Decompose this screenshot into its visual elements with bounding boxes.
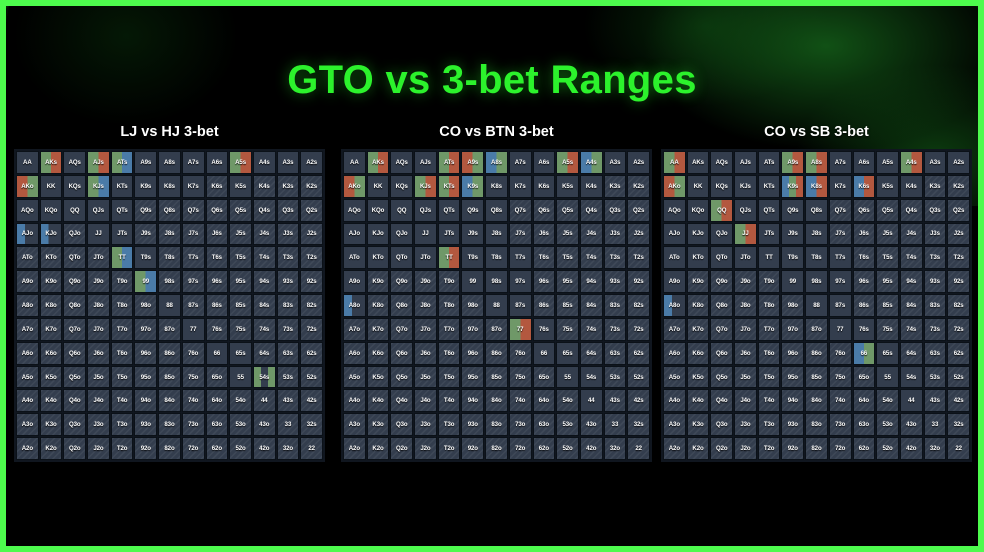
range-cell[interactable]: 99 (134, 270, 157, 293)
range-cell[interactable]: QQ (390, 199, 413, 222)
range-cell[interactable]: 63s (277, 342, 300, 365)
range-cell[interactable]: 43s (277, 389, 300, 412)
range-cell[interactable]: 66 (533, 342, 556, 365)
range-cell[interactable]: A9s (134, 151, 157, 174)
range-cell[interactable]: 63s (604, 342, 627, 365)
range-cell[interactable]: 73o (509, 413, 532, 436)
range-cell[interactable]: 32o (924, 437, 947, 460)
range-grid-co-vs-btn[interactable]: AAAKsAQsAJsATsA9sA8sA7sA6sA5sA4sA3sA2sAK… (341, 149, 652, 462)
range-cell[interactable]: AA (343, 151, 366, 174)
range-cell[interactable]: T8s (805, 246, 828, 269)
range-cell[interactable]: K4s (900, 175, 923, 198)
range-cell[interactable]: T3o (758, 413, 781, 436)
range-cell[interactable]: K8s (805, 175, 828, 198)
range-cell[interactable]: J4o (87, 389, 110, 412)
range-cell[interactable]: T7o (758, 318, 781, 341)
range-cell[interactable]: 76o (509, 342, 532, 365)
range-cell[interactable]: 96o (781, 342, 804, 365)
range-cell[interactable]: J8o (414, 294, 437, 317)
range-cell[interactable]: 64o (853, 389, 876, 412)
range-cell[interactable]: Q9o (710, 270, 733, 293)
range-cell[interactable]: A6s (533, 151, 556, 174)
range-cell[interactable]: AJo (16, 223, 39, 246)
range-cell[interactable]: KK (687, 175, 710, 198)
range-cell[interactable]: 82o (485, 437, 508, 460)
range-cell[interactable]: AQo (343, 199, 366, 222)
range-cell[interactable]: J3s (924, 223, 947, 246)
range-cell[interactable]: Q6o (63, 342, 86, 365)
range-cell[interactable]: AQs (63, 151, 86, 174)
range-cell[interactable]: J7o (414, 318, 437, 341)
range-cell[interactable]: J4s (253, 223, 276, 246)
range-cell[interactable]: Q8o (710, 294, 733, 317)
range-cell[interactable]: AKs (40, 151, 63, 174)
range-cell[interactable]: ATo (16, 246, 39, 269)
range-cell[interactable]: A4o (663, 389, 686, 412)
range-cell[interactable]: 85s (556, 294, 579, 317)
range-cell[interactable]: 95o (134, 366, 157, 389)
range-cell[interactable]: 54s (253, 366, 276, 389)
range-cell[interactable]: 95s (556, 270, 579, 293)
range-cell[interactable]: 99 (781, 270, 804, 293)
range-cell[interactable]: 94o (134, 389, 157, 412)
range-cell[interactable]: 62s (627, 342, 650, 365)
range-cell[interactable]: A5s (556, 151, 579, 174)
range-cell[interactable]: 88 (485, 294, 508, 317)
range-cell[interactable]: 66 (853, 342, 876, 365)
range-cell[interactable]: JJ (414, 223, 437, 246)
range-cell[interactable]: J9o (414, 270, 437, 293)
range-cell[interactable]: J9s (461, 223, 484, 246)
range-cell[interactable]: 75o (829, 366, 852, 389)
range-cell[interactable]: 87o (158, 318, 181, 341)
range-cell[interactable]: 92o (134, 437, 157, 460)
range-cell[interactable]: 42s (627, 389, 650, 412)
range-cell[interactable]: 82s (947, 294, 970, 317)
range-cell[interactable]: K3s (277, 175, 300, 198)
range-cell[interactable]: 98o (134, 294, 157, 317)
range-cell[interactable]: 87s (182, 294, 205, 317)
range-cell[interactable]: AQo (16, 199, 39, 222)
range-cell[interactable]: 94s (900, 270, 923, 293)
range-cell[interactable]: T2s (947, 246, 970, 269)
range-cell[interactable]: Q6o (710, 342, 733, 365)
range-cell[interactable]: A8o (343, 294, 366, 317)
range-cell[interactable]: 74s (580, 318, 603, 341)
range-cell[interactable]: 73o (182, 413, 205, 436)
range-cell[interactable]: TT (438, 246, 461, 269)
range-cell[interactable]: Q3s (924, 199, 947, 222)
range-cell[interactable]: 96o (461, 342, 484, 365)
range-cell[interactable]: A7s (829, 151, 852, 174)
range-cell[interactable]: AJo (343, 223, 366, 246)
range-cell[interactable]: J8s (485, 223, 508, 246)
range-cell[interactable]: AJs (414, 151, 437, 174)
range-cell[interactable]: 94o (461, 389, 484, 412)
range-cell[interactable]: 53s (924, 366, 947, 389)
range-cell[interactable]: A4s (253, 151, 276, 174)
range-cell[interactable]: T8s (158, 246, 181, 269)
range-cell[interactable]: 53o (876, 413, 899, 436)
range-cell[interactable]: 64o (206, 389, 229, 412)
range-cell[interactable]: 42o (580, 437, 603, 460)
range-cell[interactable]: Q6s (533, 199, 556, 222)
range-cell[interactable]: 75o (509, 366, 532, 389)
range-cell[interactable]: 43s (924, 389, 947, 412)
range-cell[interactable]: J2s (627, 223, 650, 246)
range-cell[interactable]: A6s (853, 151, 876, 174)
range-cell[interactable]: ATs (438, 151, 461, 174)
range-cell[interactable]: K7s (829, 175, 852, 198)
range-cell[interactable]: J2s (947, 223, 970, 246)
range-cell[interactable]: 22 (947, 437, 970, 460)
range-cell[interactable]: 52s (627, 366, 650, 389)
range-cell[interactable]: TT (111, 246, 134, 269)
range-cell[interactable]: 32o (604, 437, 627, 460)
range-cell[interactable]: 99 (461, 270, 484, 293)
range-cell[interactable]: QJo (710, 223, 733, 246)
range-cell[interactable]: KQo (687, 199, 710, 222)
range-cell[interactable]: J5s (229, 223, 252, 246)
range-cell[interactable]: JJ (87, 223, 110, 246)
range-cell[interactable]: A7o (343, 318, 366, 341)
range-cell[interactable]: 93o (781, 413, 804, 436)
range-cell[interactable]: K2s (947, 175, 970, 198)
range-cell[interactable]: 95s (876, 270, 899, 293)
range-cell[interactable]: J5s (556, 223, 579, 246)
range-cell[interactable]: QTo (63, 246, 86, 269)
range-cell[interactable]: QJo (63, 223, 86, 246)
range-cell[interactable]: 53s (604, 366, 627, 389)
range-cell[interactable]: J4o (414, 389, 437, 412)
range-cell[interactable]: A8s (158, 151, 181, 174)
range-cell[interactable]: T5s (229, 246, 252, 269)
range-cell[interactable]: J3o (414, 413, 437, 436)
range-cell[interactable]: KTs (758, 175, 781, 198)
range-cell[interactable]: J2s (300, 223, 323, 246)
range-cell[interactable]: K9s (781, 175, 804, 198)
range-cell[interactable]: K6o (367, 342, 390, 365)
range-cell[interactable]: K4s (580, 175, 603, 198)
range-cell[interactable]: J7o (87, 318, 110, 341)
range-cell[interactable]: K8o (40, 294, 63, 317)
range-cell[interactable]: 62o (533, 437, 556, 460)
range-cell[interactable]: Q7o (63, 318, 86, 341)
range-cell[interactable]: 95o (461, 366, 484, 389)
range-cell[interactable]: ATo (663, 246, 686, 269)
range-cell[interactable]: JTo (87, 246, 110, 269)
range-cell[interactable]: 65o (853, 366, 876, 389)
range-cell[interactable]: AKs (687, 151, 710, 174)
range-cell[interactable]: 63o (206, 413, 229, 436)
range-cell[interactable]: J4s (900, 223, 923, 246)
range-cell[interactable]: A3o (663, 413, 686, 436)
range-cell[interactable]: K7o (687, 318, 710, 341)
range-cell[interactable]: AA (16, 151, 39, 174)
range-cell[interactable]: J8o (734, 294, 757, 317)
range-cell[interactable]: 82o (158, 437, 181, 460)
range-cell[interactable]: Q4s (900, 199, 923, 222)
range-cell[interactable]: AQs (390, 151, 413, 174)
range-cell[interactable]: 52o (876, 437, 899, 460)
range-cell[interactable]: A2o (16, 437, 39, 460)
range-cell[interactable]: 82s (627, 294, 650, 317)
range-cell[interactable]: 85s (876, 294, 899, 317)
range-cell[interactable]: J7s (182, 223, 205, 246)
range-cell[interactable]: 62s (300, 342, 323, 365)
range-cell[interactable]: T4o (438, 389, 461, 412)
range-cell[interactable]: 87s (509, 294, 532, 317)
range-cell[interactable]: J2o (87, 437, 110, 460)
range-cell[interactable]: T5o (111, 366, 134, 389)
range-cell[interactable]: A9o (663, 270, 686, 293)
range-cell[interactable]: 95s (229, 270, 252, 293)
range-cell[interactable]: Q5s (229, 199, 252, 222)
range-cell[interactable]: J4s (580, 223, 603, 246)
range-cell[interactable]: T9o (758, 270, 781, 293)
range-cell[interactable]: 86o (485, 342, 508, 365)
range-cell[interactable]: Q4o (390, 389, 413, 412)
range-cell[interactable]: J2o (734, 437, 757, 460)
range-cell[interactable]: J6o (87, 342, 110, 365)
range-cell[interactable]: Q4o (63, 389, 86, 412)
range-cell[interactable]: Q9s (781, 199, 804, 222)
range-cell[interactable]: 63o (533, 413, 556, 436)
range-cell[interactable]: J8s (158, 223, 181, 246)
range-cell[interactable]: 83o (158, 413, 181, 436)
range-cell[interactable]: T9o (111, 270, 134, 293)
range-cell[interactable]: Q8s (158, 199, 181, 222)
range-cell[interactable]: Q7s (182, 199, 205, 222)
range-cell[interactable]: 72s (300, 318, 323, 341)
range-cell[interactable]: J9s (781, 223, 804, 246)
range-cell[interactable]: T7s (182, 246, 205, 269)
range-cell[interactable]: KQs (710, 175, 733, 198)
range-cell[interactable]: K7s (509, 175, 532, 198)
range-cell[interactable]: 64s (580, 342, 603, 365)
range-cell[interactable]: 96o (134, 342, 157, 365)
range-cell[interactable]: 92s (627, 270, 650, 293)
range-cell[interactable]: A5s (876, 151, 899, 174)
range-cell[interactable]: J4o (734, 389, 757, 412)
range-cell[interactable]: K5o (367, 366, 390, 389)
range-cell[interactable]: 76s (533, 318, 556, 341)
range-cell[interactable]: 73o (829, 413, 852, 436)
range-cell[interactable]: 93s (604, 270, 627, 293)
range-cell[interactable]: K5o (687, 366, 710, 389)
range-cell[interactable]: QTs (111, 199, 134, 222)
range-cell[interactable]: AA (663, 151, 686, 174)
range-cell[interactable]: 64o (533, 389, 556, 412)
range-cell[interactable]: T8o (111, 294, 134, 317)
range-cell[interactable]: Q6s (206, 199, 229, 222)
range-cell[interactable]: Q5o (710, 366, 733, 389)
range-cell[interactable]: T6s (206, 246, 229, 269)
range-cell[interactable]: Q3s (277, 199, 300, 222)
range-cell[interactable]: 32s (627, 413, 650, 436)
range-cell[interactable]: 85o (485, 366, 508, 389)
range-cell[interactable]: 94o (781, 389, 804, 412)
range-cell[interactable]: 43o (900, 413, 923, 436)
range-cell[interactable]: 62o (206, 437, 229, 460)
range-cell[interactable]: KJs (414, 175, 437, 198)
range-cell[interactable]: K9s (461, 175, 484, 198)
range-cell[interactable]: Q5s (556, 199, 579, 222)
range-cell[interactable]: ATs (758, 151, 781, 174)
range-cell[interactable]: A5o (663, 366, 686, 389)
range-cell[interactable]: JTo (734, 246, 757, 269)
range-cell[interactable]: A7s (509, 151, 532, 174)
range-cell[interactable]: 96s (853, 270, 876, 293)
range-cell[interactable]: 82s (300, 294, 323, 317)
range-cell[interactable]: QQ (710, 199, 733, 222)
range-cell[interactable]: J5o (414, 366, 437, 389)
range-cell[interactable]: T9s (134, 246, 157, 269)
range-cell[interactable]: JTs (758, 223, 781, 246)
range-cell[interactable]: A7o (663, 318, 686, 341)
range-cell[interactable]: J7s (509, 223, 532, 246)
range-cell[interactable]: K4s (253, 175, 276, 198)
range-cell[interactable]: 86o (805, 342, 828, 365)
range-cell[interactable]: J7o (734, 318, 757, 341)
range-cell[interactable]: Q6s (853, 199, 876, 222)
range-cell[interactable]: 83o (485, 413, 508, 436)
range-cell[interactable]: 73s (277, 318, 300, 341)
range-cell[interactable]: Q7o (710, 318, 733, 341)
range-cell[interactable]: K7o (367, 318, 390, 341)
range-cell[interactable]: Q7s (829, 199, 852, 222)
range-cell[interactable]: 93s (277, 270, 300, 293)
range-cell[interactable]: A8o (16, 294, 39, 317)
range-cell[interactable]: K2s (300, 175, 323, 198)
range-cell[interactable]: K2o (40, 437, 63, 460)
range-cell[interactable]: J7s (829, 223, 852, 246)
range-cell[interactable]: T6s (533, 246, 556, 269)
range-cell[interactable]: T5o (758, 366, 781, 389)
range-cell[interactable]: 65o (533, 366, 556, 389)
range-cell[interactable]: Q3s (604, 199, 627, 222)
range-cell[interactable]: A2o (663, 437, 686, 460)
range-cell[interactable]: 55 (876, 366, 899, 389)
range-cell[interactable]: AJs (87, 151, 110, 174)
range-cell[interactable]: 54o (556, 389, 579, 412)
range-cell[interactable]: 84s (900, 294, 923, 317)
range-cell[interactable]: KJo (367, 223, 390, 246)
range-cell[interactable]: 83o (805, 413, 828, 436)
range-cell[interactable]: 85s (229, 294, 252, 317)
range-cell[interactable]: KTo (687, 246, 710, 269)
range-cell[interactable]: 54s (580, 366, 603, 389)
range-cell[interactable]: T6o (111, 342, 134, 365)
range-cell[interactable]: 83s (277, 294, 300, 317)
range-cell[interactable]: 22 (627, 437, 650, 460)
range-cell[interactable]: QQ (63, 199, 86, 222)
range-cell[interactable]: K3s (924, 175, 947, 198)
range-cell[interactable]: QTs (758, 199, 781, 222)
range-cell[interactable]: 22 (300, 437, 323, 460)
range-cell[interactable]: AJs (734, 151, 757, 174)
range-cell[interactable]: 84s (253, 294, 276, 317)
range-cell[interactable]: JJ (734, 223, 757, 246)
range-cell[interactable]: 74o (829, 389, 852, 412)
range-cell[interactable]: A3s (924, 151, 947, 174)
range-cell[interactable]: 94s (253, 270, 276, 293)
range-cell[interactable]: 98o (781, 294, 804, 317)
range-cell[interactable]: Q9s (461, 199, 484, 222)
range-cell[interactable]: 97o (461, 318, 484, 341)
range-cell[interactable]: TT (758, 246, 781, 269)
range-cell[interactable]: 84o (805, 389, 828, 412)
range-cell[interactable]: J6o (734, 342, 757, 365)
range-cell[interactable]: A2s (627, 151, 650, 174)
range-cell[interactable]: Q7o (390, 318, 413, 341)
range-cell[interactable]: 76o (182, 342, 205, 365)
range-cell[interactable]: Q4s (253, 199, 276, 222)
range-cell[interactable]: KTs (111, 175, 134, 198)
range-cell[interactable]: T5s (556, 246, 579, 269)
range-cell[interactable]: 72s (627, 318, 650, 341)
range-cell[interactable]: T3o (438, 413, 461, 436)
range-cell[interactable]: 54o (876, 389, 899, 412)
range-cell[interactable]: 42o (900, 437, 923, 460)
range-cell[interactable]: J9s (134, 223, 157, 246)
range-cell[interactable]: Q2s (947, 199, 970, 222)
range-cell[interactable]: J6o (414, 342, 437, 365)
range-cell[interactable]: 86s (533, 294, 556, 317)
range-cell[interactable]: QJs (87, 199, 110, 222)
range-cell[interactable]: 77 (829, 318, 852, 341)
range-cell[interactable]: T2s (627, 246, 650, 269)
range-cell[interactable]: A7o (16, 318, 39, 341)
range-cell[interactable]: JTs (111, 223, 134, 246)
range-cell[interactable]: KJs (734, 175, 757, 198)
range-cell[interactable]: KQs (63, 175, 86, 198)
range-cell[interactable]: 63s (924, 342, 947, 365)
range-cell[interactable]: 97o (134, 318, 157, 341)
range-cell[interactable]: 75s (556, 318, 579, 341)
range-cell[interactable]: J6s (206, 223, 229, 246)
range-cell[interactable]: T7o (111, 318, 134, 341)
range-cell[interactable]: KJo (40, 223, 63, 246)
range-cell[interactable]: 66 (206, 342, 229, 365)
range-cell[interactable]: T2s (300, 246, 323, 269)
range-cell[interactable]: A8s (805, 151, 828, 174)
range-cell[interactable]: KQs (390, 175, 413, 198)
range-cell[interactable]: 87o (805, 318, 828, 341)
range-cell[interactable]: 43o (580, 413, 603, 436)
range-cell[interactable]: J6s (533, 223, 556, 246)
range-cell[interactable]: 75s (229, 318, 252, 341)
range-cell[interactable]: KK (40, 175, 63, 198)
range-cell[interactable]: T8o (758, 294, 781, 317)
range-cell[interactable]: T5o (438, 366, 461, 389)
range-cell[interactable]: T6o (438, 342, 461, 365)
range-cell[interactable]: 98s (485, 270, 508, 293)
range-cell[interactable]: 33 (604, 413, 627, 436)
range-cell[interactable]: KTs (438, 175, 461, 198)
range-cell[interactable]: AKo (663, 175, 686, 198)
range-grid-lj-vs-hj[interactable]: AAAKsAQsAJsATsA9sA8sA7sA6sA5sA4sA3sA2sAK… (14, 149, 325, 462)
range-cell[interactable]: 64s (900, 342, 923, 365)
range-cell[interactable]: 85o (805, 366, 828, 389)
range-cell[interactable]: 86o (158, 342, 181, 365)
range-cell[interactable]: 33 (277, 413, 300, 436)
range-cell[interactable]: 84o (158, 389, 181, 412)
range-cell[interactable]: Q5s (876, 199, 899, 222)
range-cell[interactable]: A4s (580, 151, 603, 174)
range-cell[interactable]: Q9o (63, 270, 86, 293)
range-cell[interactable]: Q2o (710, 437, 733, 460)
